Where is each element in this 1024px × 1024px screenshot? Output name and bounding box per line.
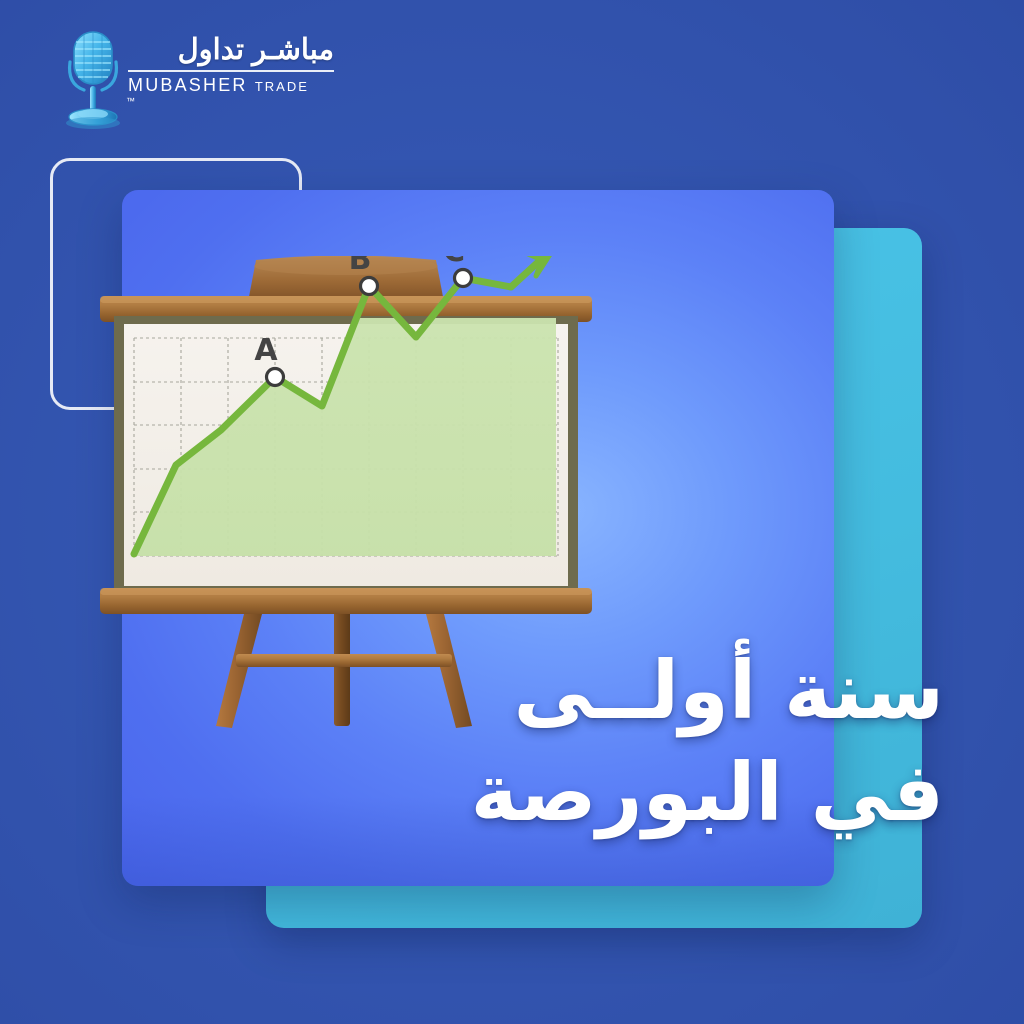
brand-logo[interactable]: مباشـر تداول MUBASHER TRADE ™ xyxy=(62,28,282,132)
logo-english-suffix: TRADE xyxy=(255,79,309,94)
chart-label-a: A xyxy=(254,333,278,368)
chart-label-b: B xyxy=(349,256,372,277)
chart-marker-b xyxy=(361,278,378,295)
easel-left-leg xyxy=(216,614,262,728)
chart-marker-a xyxy=(267,369,284,386)
headline-line-1: سنة أولــى xyxy=(384,640,944,742)
logo-english-main: MUBASHER xyxy=(128,75,248,95)
chart-label-c: C xyxy=(443,256,465,269)
logo-english-name: MUBASHER TRADE xyxy=(128,75,334,96)
headline-line-2: في البورصة xyxy=(384,742,944,844)
headline: سنة أولــى في البورصة xyxy=(384,640,944,845)
microphone-icon xyxy=(62,28,124,130)
logo-wordmark: مباشـر تداول MUBASHER TRADE xyxy=(128,34,334,96)
poster-canvas: مباشـر تداول MUBASHER TRADE ™ xyxy=(0,0,1024,1024)
logo-arabic-name: مباشـر تداول xyxy=(128,34,334,67)
chart-marker-c xyxy=(455,270,472,287)
trademark-symbol: ™ xyxy=(126,96,135,106)
logo-divider xyxy=(128,70,334,72)
